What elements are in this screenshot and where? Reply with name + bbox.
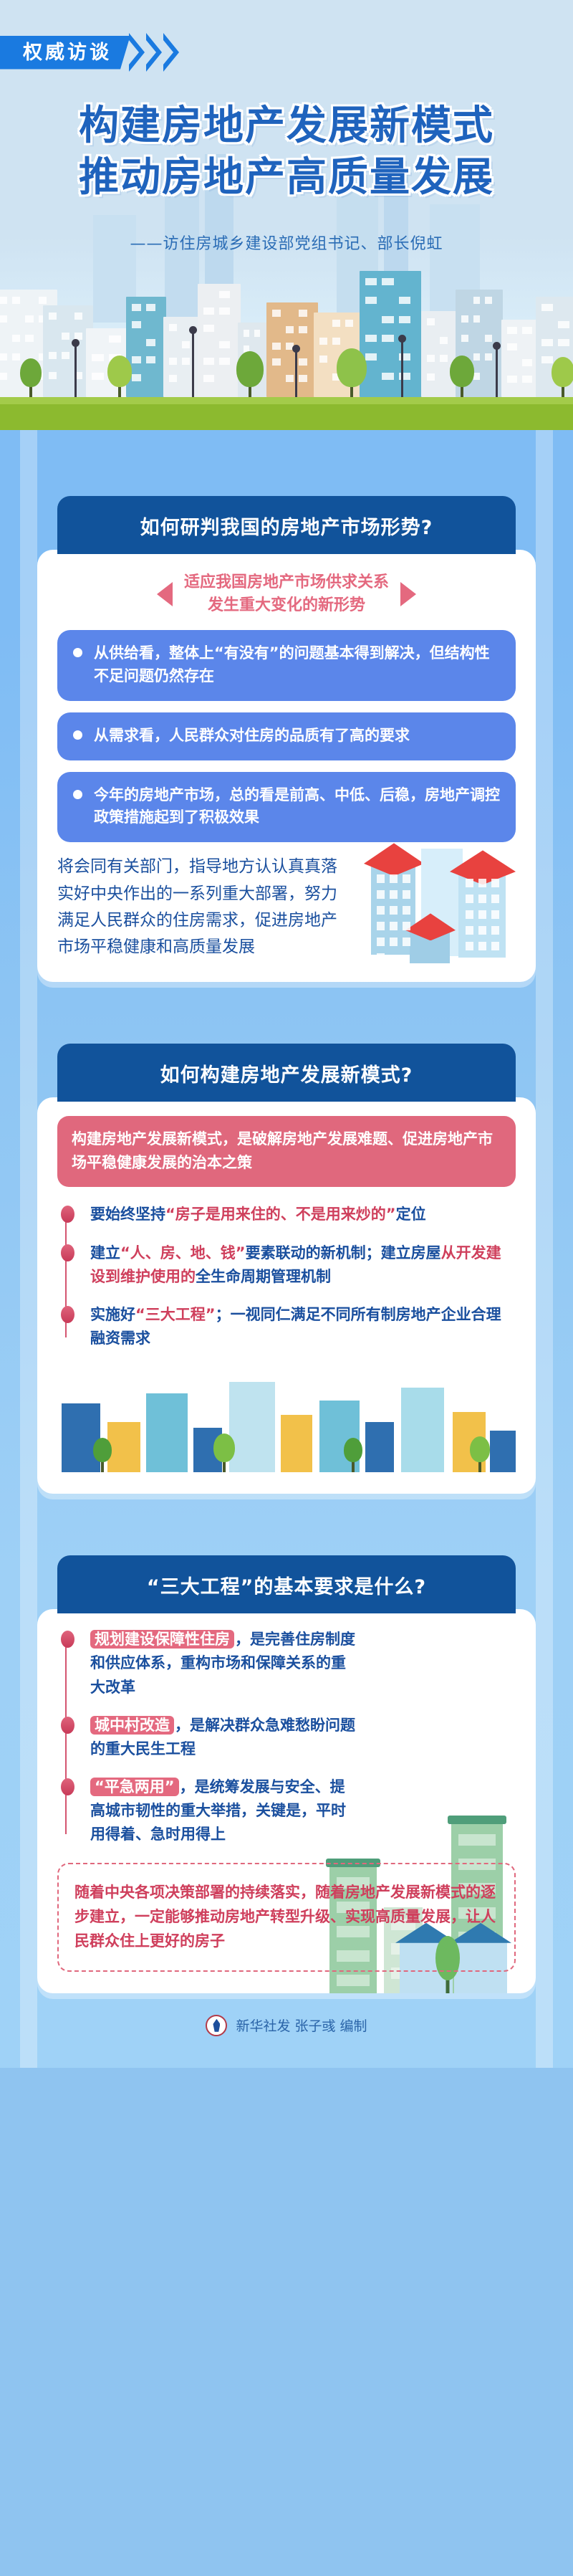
window-shape: [507, 376, 517, 383]
window-shape: [254, 330, 260, 337]
window-shape: [272, 343, 281, 350]
keyword-chip: 规划建设保障性住房: [90, 1630, 234, 1649]
city-illustration: [0, 258, 573, 430]
highlight-banner-line2: 发生重大变化的新形势: [184, 594, 389, 617]
window-shape: [299, 310, 307, 317]
iso-window-shape: [403, 938, 410, 946]
timeline-item-text: 建立“人、房、地、钱”要素联动的新机制；建立房屋从开发建设到维护使用的全生命周期…: [90, 1241, 516, 1289]
window-shape: [440, 337, 448, 344]
timeline-item: 实施好“三大工程”；一视同仁满足不同所有制房地产企业合理融资需求: [90, 1303, 516, 1350]
window-shape: [541, 304, 553, 311]
iso-window-shape: [403, 922, 410, 930]
timeline-list-three-projects: 规划建设保障性住房，是完善住房制度和供应体系，重构市场和保障关系的重大改革城中村…: [57, 1628, 358, 1846]
window-shape: [12, 297, 21, 304]
iso-window-shape: [377, 890, 385, 899]
tree-shape: [552, 356, 573, 397]
mini-building-shape: [107, 1422, 140, 1472]
window-shape: [203, 307, 214, 315]
timeline-item: 要始终坚持“房子是用来住的、不是用来炒的”定位: [90, 1203, 516, 1226]
text-run: “三大工程”: [135, 1306, 216, 1323]
window-shape: [219, 291, 230, 298]
section-question-2: 如何构建房地产发展新模式?: [57, 1044, 516, 1102]
tree-crown: [236, 351, 264, 387]
iso-window-shape: [466, 942, 473, 950]
window-shape: [219, 341, 230, 348]
window-shape: [299, 358, 307, 366]
window-shape: [203, 358, 214, 365]
bullet-item: 从需求看，人民群众对住房的品质有了高的要求: [57, 712, 516, 760]
tree-shape: [470, 1434, 490, 1472]
antenna-shape: [401, 340, 403, 397]
timeline-node-icon: [61, 1244, 74, 1261]
window-shape: [182, 341, 190, 348]
window-shape: [337, 1975, 370, 1986]
window-shape: [522, 376, 532, 383]
antenna-shape: [192, 331, 194, 397]
window-shape: [440, 355, 448, 362]
iso-window-shape: [491, 879, 499, 887]
window-shape: [485, 353, 492, 361]
window-shape: [473, 315, 481, 323]
keyword-chip: “平急两用”: [90, 1778, 179, 1796]
iso-window-shape: [390, 906, 398, 915]
iso-window-shape: [390, 938, 398, 946]
antenna-shape: [295, 350, 297, 397]
iso-window-shape: [390, 922, 398, 930]
window-shape: [92, 354, 104, 361]
window-shape: [244, 330, 249, 337]
timeline-node-icon: [61, 1778, 74, 1795]
city-skyline-illustration: [57, 1365, 516, 1472]
tree-crown: [450, 356, 474, 387]
tree-shape: [20, 357, 42, 397]
window-shape: [0, 315, 7, 323]
iso-window-shape: [377, 922, 385, 930]
window-shape: [541, 339, 553, 346]
pink-highlight-banner: 构建房地产发展新模式，是破解房地产发展难题、促进房地产市场平稳健康发展的治本之策: [57, 1116, 516, 1187]
section-market-situation: 如何研判我国的房地产市场形势? 适应我国房地产市场供求关系 发生重大变化的新形势…: [0, 430, 573, 982]
section-card-3: 规划建设保障性住房，是完善住房制度和供应体系，重构市场和保障关系的重大改革城中村…: [37, 1609, 536, 1993]
mini-building-shape: [490, 1431, 516, 1472]
window-shape: [345, 320, 353, 327]
window-shape: [74, 313, 82, 320]
window-shape: [0, 373, 7, 380]
window-shape: [12, 353, 21, 361]
highlight-banner-line1: 适应我国房地产市场供求关系: [184, 571, 389, 594]
section-new-model: 如何构建房地产发展新模式? 构建房地产发展新模式，是破解房地产发展难题、促进房地…: [0, 982, 573, 1494]
window-shape: [473, 373, 481, 380]
mini-building-shape: [146, 1393, 188, 1472]
text-run: 建立: [90, 1244, 120, 1261]
window-shape: [109, 335, 121, 343]
page-subtitle: ——访住房城乡建设部党组书记、部长倪虹: [0, 231, 573, 254]
window-shape: [332, 338, 340, 345]
iso-window-shape: [377, 906, 385, 915]
window-shape: [507, 327, 517, 334]
window-shape: [485, 335, 492, 342]
antenna-shape: [496, 347, 498, 397]
tree-crown: [344, 1438, 362, 1462]
timeline-item: 规划建设保障性住房，是完善住房制度和供应体系，重构市场和保障关系的重大改革: [90, 1628, 358, 1699]
hero-banner: 权威访谈 构建房地产发展新模式 推动房地产高质量发展 ——访住房城乡建设部党组书…: [0, 0, 573, 430]
text-run: 要始终坚持: [90, 1206, 165, 1223]
window-shape: [219, 307, 230, 315]
iso-window-shape: [403, 906, 410, 915]
timeline-item: 城中村改造，是解决群众急难愁盼问题的重大民生工程: [90, 1714, 358, 1761]
window-shape: [458, 1834, 496, 1846]
window-shape: [399, 316, 410, 323]
timeline-node-icon: [61, 1631, 74, 1648]
window-shape: [39, 297, 47, 304]
content-body: 如何研判我国的房地产市场形势? 适应我国房地产市场供求关系 发生重大变化的新形势…: [0, 430, 573, 2068]
bullet-item: 从供给看，整体上“有没有”的问题基本得到解决，但结构性不足问题仍然存在: [57, 630, 516, 701]
window-shape: [382, 316, 393, 323]
tree-shape: [337, 347, 367, 397]
window-shape: [0, 353, 7, 361]
timeline-item-text: 要始终坚持“房子是用来住的、不是用来炒的”定位: [90, 1203, 516, 1226]
building-shape: [198, 284, 241, 397]
tree-shape: [450, 354, 474, 397]
text-run: 实施好: [90, 1306, 135, 1323]
mini-building-shape: [401, 1388, 444, 1472]
section-card-1: 适应我国房地产市场供求关系 发生重大变化的新形势 从供给看，整体上“有没有”的问…: [37, 550, 536, 982]
keyword-chip: 城中村改造: [90, 1716, 174, 1735]
xinhua-logo-icon: [206, 2015, 227, 2036]
iso-window-shape: [403, 874, 410, 883]
tree-crown: [213, 1434, 235, 1462]
page-title: 构建房地产发展新模式 推动房地产高质量发展: [0, 100, 573, 203]
window-shape: [49, 372, 57, 379]
window-shape: [169, 324, 177, 331]
window-shape: [62, 333, 69, 340]
window-shape: [473, 353, 481, 361]
mini-building-shape: [365, 1422, 394, 1472]
tree-shape: [213, 1431, 235, 1472]
window-shape: [558, 339, 569, 346]
window-shape: [473, 297, 481, 304]
tree-crown: [93, 1438, 112, 1462]
window-shape: [332, 320, 340, 327]
timeline-item: 建立“人、房、地、钱”要素联动的新机制；建立房屋从开发建设到维护使用的全生命周期…: [90, 1241, 516, 1289]
window-shape: [132, 321, 141, 328]
iso-window-shape: [478, 926, 486, 935]
window-shape: [365, 297, 377, 304]
chevron-right-icon: [127, 33, 179, 72]
window-shape: [485, 297, 492, 304]
window-shape: [427, 373, 435, 381]
iso-window-shape: [377, 953, 385, 962]
mini-building-shape: [281, 1415, 312, 1472]
iso-window-shape: [478, 942, 486, 950]
text-run: 定位: [396, 1206, 426, 1223]
category-badge: 权威访谈: [0, 33, 179, 72]
window-shape: [146, 356, 155, 363]
section-question-1: 如何研判我国的房地产市场形势?: [57, 496, 516, 554]
window-shape: [382, 373, 393, 380]
tree-crown: [470, 1436, 490, 1462]
timeline-item-text: 规划建设保障性住房，是完善住房制度和供应体系，重构市场和保障关系的重大改革: [90, 1628, 358, 1699]
iso-window-shape: [403, 890, 410, 899]
window-shape: [12, 335, 21, 342]
window-shape: [25, 315, 34, 323]
iso-window-shape: [478, 910, 486, 919]
iso-window-shape: [390, 890, 398, 899]
window-shape: [49, 352, 57, 359]
building-shape: [360, 271, 421, 397]
window-shape: [92, 373, 104, 380]
isometric-buildings-illustration: [358, 821, 523, 972]
text-run: “人、房、地、钱”: [120, 1244, 246, 1261]
window-shape: [365, 278, 377, 285]
section-three-projects: “三大工程”的基本要求是什么? 规划建设保障性住房，是完善住房制度和供应体系，重…: [0, 1494, 573, 1993]
timeline-item-text: “平急两用”，是统筹发展与安全、提高城市韧性的重大举措，关键是，平时用得着、急时…: [90, 1775, 358, 1847]
window-shape: [49, 313, 57, 320]
tree-shape: [107, 354, 132, 397]
window-shape: [132, 374, 141, 381]
window-shape: [0, 297, 7, 304]
window-shape: [427, 318, 435, 325]
window-shape: [74, 333, 82, 340]
antenna-shape: [74, 344, 77, 397]
tree-crown: [20, 358, 42, 387]
triangle-right-icon: [400, 582, 416, 606]
bullet-dot-icon: [73, 648, 82, 657]
triangle-left-icon: [157, 582, 173, 606]
section-closing-text: 将会同有关部门，指导地方认认真真落实好中央作出的一系列重大部署，努力满足人民群众…: [57, 854, 344, 960]
section-card-2: 构建房地产发展新模式，是破解房地产发展难题、促进房地产市场平稳健康发展的治本之策…: [37, 1097, 536, 1494]
window-shape: [286, 375, 294, 382]
bullet-dot-icon: [73, 730, 82, 740]
window-shape: [365, 335, 377, 342]
iso-window-shape: [377, 874, 385, 883]
window-shape: [399, 297, 410, 304]
highlight-banner: 适应我国房地产市场供求关系 发生重大变化的新形势: [57, 571, 516, 617]
timeline-node-icon: [61, 1717, 74, 1734]
tree-crown: [337, 348, 367, 387]
timeline-list-new-model: 要始终坚持“房子是用来住的、不是用来炒的”定位建立“人、房、地、钱”要素联动的新…: [57, 1203, 516, 1350]
window-shape: [25, 335, 34, 342]
iso-window-shape: [377, 938, 385, 946]
iso-window-shape: [466, 910, 473, 919]
timeline-node-icon: [61, 1306, 74, 1323]
page-title-line1: 构建房地产发展新模式: [0, 100, 573, 152]
page-title-line2: 推动房地产高质量发展: [0, 152, 573, 204]
window-shape: [461, 315, 468, 323]
bullet-text: 从需求看，人民群众对住房的品质有了高的要求: [94, 725, 410, 748]
bullet-text: 从供给看，整体上“有没有”的问题基本得到解决，但结构性不足问题仍然存在: [94, 642, 500, 688]
window-shape: [319, 356, 327, 363]
window-shape: [522, 327, 532, 334]
window-shape: [203, 375, 214, 382]
tree-shape: [344, 1435, 362, 1472]
window-shape: [62, 352, 69, 359]
window-shape: [146, 304, 155, 311]
tree-crown: [552, 357, 573, 387]
window-shape: [272, 358, 281, 366]
tree-shape: [236, 350, 264, 397]
footer-credit: 新华社发 张子彧 编制: [236, 2016, 367, 2035]
text-run: “房子是用来住的、不是用来炒的”: [165, 1206, 396, 1223]
window-shape: [427, 355, 435, 362]
window-shape: [272, 310, 281, 317]
timeline-node-icon: [61, 1206, 74, 1223]
iso-window-shape: [478, 879, 486, 887]
text-run: 要素联动的新机制；建立房屋: [246, 1244, 441, 1261]
window-shape: [558, 321, 569, 328]
iso-window-shape: [390, 874, 398, 883]
iso-window-shape: [466, 895, 473, 903]
window-shape: [169, 375, 177, 382]
building-cap: [448, 1816, 506, 1824]
window-shape: [146, 339, 155, 346]
window-shape: [319, 338, 327, 345]
window-shape: [507, 343, 517, 350]
iso-window-shape: [491, 926, 499, 935]
window-shape: [286, 326, 294, 333]
text-run: 全生命周期管理机制: [196, 1268, 331, 1285]
window-shape: [461, 335, 468, 342]
window-shape: [299, 375, 307, 382]
window-shape: [365, 353, 377, 361]
iso-window-shape: [478, 895, 486, 903]
window-shape: [132, 356, 141, 363]
tree-crown: [107, 356, 132, 387]
iso-window-shape: [491, 910, 499, 919]
section-question-3: “三大工程”的基本要求是什么?: [57, 1555, 516, 1613]
timeline-item-text: 城中村改造，是解决群众急难愁盼问题的重大民生工程: [90, 1714, 358, 1761]
window-shape: [132, 304, 141, 311]
tree-shape: [93, 1435, 112, 1472]
building-shape: [126, 297, 166, 397]
bullet-dot-icon: [73, 790, 82, 799]
category-badge-label: 权威访谈: [0, 36, 130, 70]
closing-note: 随着中央各项决策部署的持续落实，随着房地产发展新模式的逐步建立，一定能够推动房地…: [57, 1863, 516, 1972]
window-shape: [382, 278, 393, 285]
window-shape: [182, 358, 190, 365]
footer: 新华社发 张子彧 编制: [0, 1993, 573, 2061]
timeline-item: “平急两用”，是统筹发展与安全、提高城市韧性的重大举措，关键是，平时用得着、急时…: [90, 1775, 358, 1847]
iso-window-shape: [491, 942, 499, 950]
window-shape: [299, 326, 307, 333]
window-shape: [219, 358, 230, 365]
mini-building-shape: [229, 1382, 275, 1472]
window-shape: [203, 325, 214, 332]
window-shape: [522, 359, 532, 366]
window-shape: [169, 358, 177, 365]
iso-window-shape: [466, 926, 473, 935]
iso-window-shape: [491, 895, 499, 903]
iso-window-shape: [466, 879, 473, 887]
window-shape: [382, 335, 393, 342]
timeline-item-text: 实施好“三大工程”；一视同仁满足不同所有制房地产企业合理融资需求: [90, 1303, 516, 1350]
